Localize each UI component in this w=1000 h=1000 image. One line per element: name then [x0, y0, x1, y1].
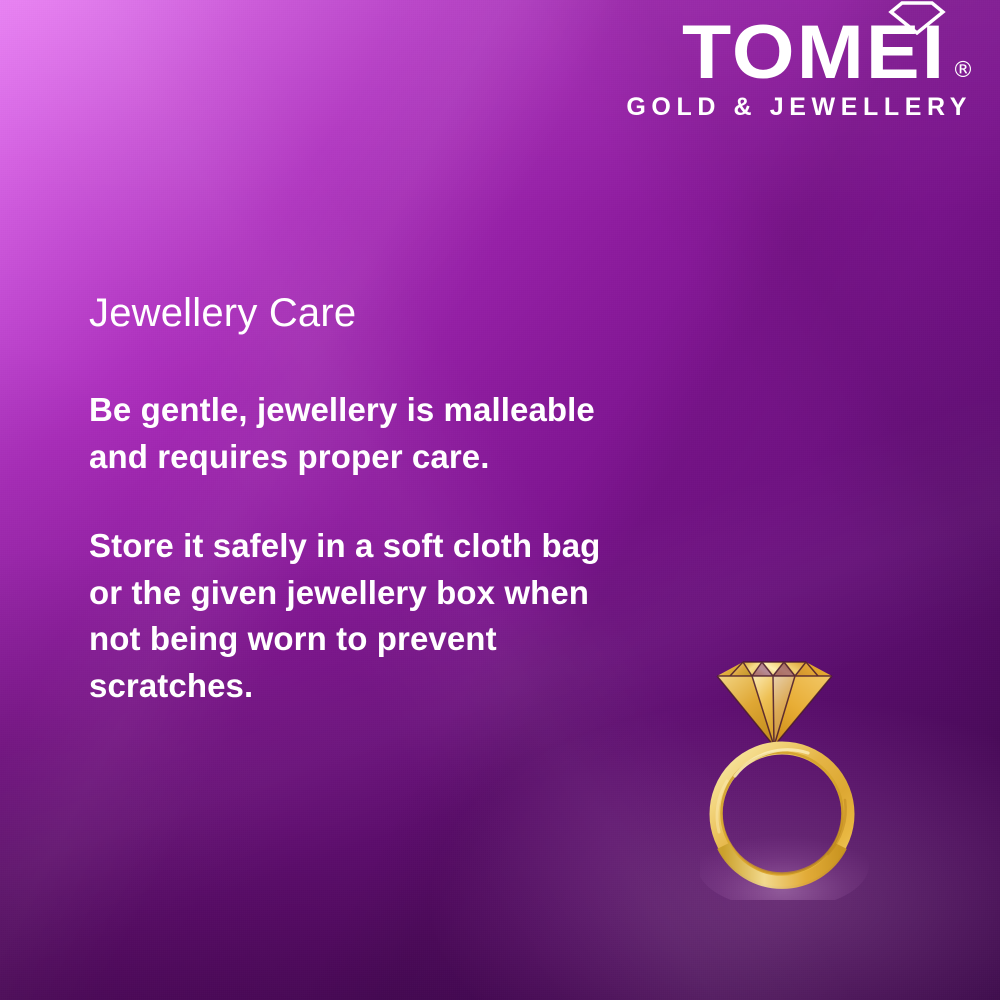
registered-trademark-icon: ® — [952, 60, 974, 82]
page-title: Jewellery Care — [89, 291, 649, 335]
diamond-ring-illustration — [700, 650, 870, 900]
brand-tagline: GOLD & JEWELLERY — [626, 93, 974, 122]
copy-block: Jewellery Care Be gentle, jewellery is m… — [89, 291, 649, 710]
care-paragraph-2: Store it safely in a soft cloth bag or t… — [89, 523, 649, 710]
gold-brilliant-cut-diamond-icon — [717, 662, 832, 746]
care-paragraph-1: Be gentle, jewellery is malleable and re… — [89, 387, 649, 481]
poster-canvas: TOMEI ® GOLD & JEWELLERY Jewellery Care … — [0, 0, 1000, 1000]
brand-wordmark-row: TOMEI ® — [626, 18, 974, 88]
brand-wordmark: TOMEI — [682, 18, 946, 88]
brand-logo: TOMEI ® GOLD & JEWELLERY — [626, 18, 974, 122]
